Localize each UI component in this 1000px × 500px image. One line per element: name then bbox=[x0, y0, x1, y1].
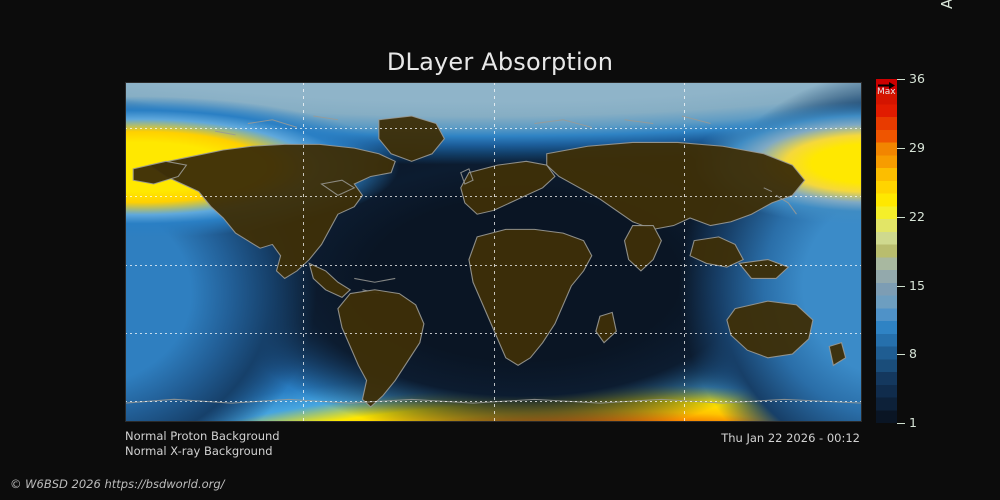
colorbar-axis-label: Affected Frequency (MHz) bbox=[938, 0, 960, 80]
world-absorption-map[interactable] bbox=[125, 82, 862, 422]
colorbar[interactable]: Max bbox=[876, 79, 897, 423]
timestamp-label: Thu Jan 22 2026 - 00:12 bbox=[560, 431, 860, 445]
status-notes: Normal Proton Background Normal X-ray Ba… bbox=[125, 429, 280, 459]
colorbar-tick-label: 1 bbox=[909, 417, 917, 429]
colorbar-tick bbox=[897, 286, 905, 287]
colorbar-tick bbox=[897, 423, 905, 424]
xray-status-text: Normal X-ray Background bbox=[125, 444, 280, 459]
longitude-gridline bbox=[684, 82, 685, 422]
colorbar-tick-label: 36 bbox=[909, 73, 925, 85]
page-title: DLayer Absorption bbox=[0, 48, 1000, 76]
colorbar-tick-label: 29 bbox=[909, 142, 925, 154]
colorbar-tick-label: 8 bbox=[909, 348, 917, 360]
colorbar-max-label: Max bbox=[877, 88, 896, 97]
longitude-gridline bbox=[303, 82, 304, 422]
longitude-gridline-prime bbox=[494, 82, 495, 422]
colorbar-tick-label: 15 bbox=[909, 280, 925, 292]
colorbar-tick bbox=[897, 79, 905, 80]
footer-credit: © W6BSD 2026 https://bsdworld.org/ bbox=[10, 477, 225, 491]
colorbar-tick bbox=[897, 148, 905, 149]
colorbar-tick bbox=[897, 217, 905, 218]
proton-status-text: Normal Proton Background bbox=[125, 429, 280, 444]
colorbar-tick bbox=[897, 354, 905, 355]
dlayer-absorption-map-page: DLayer Absorption bbox=[0, 0, 1000, 500]
colorbar-gradient bbox=[876, 79, 897, 423]
colorbar-tick-label: 22 bbox=[909, 211, 925, 223]
